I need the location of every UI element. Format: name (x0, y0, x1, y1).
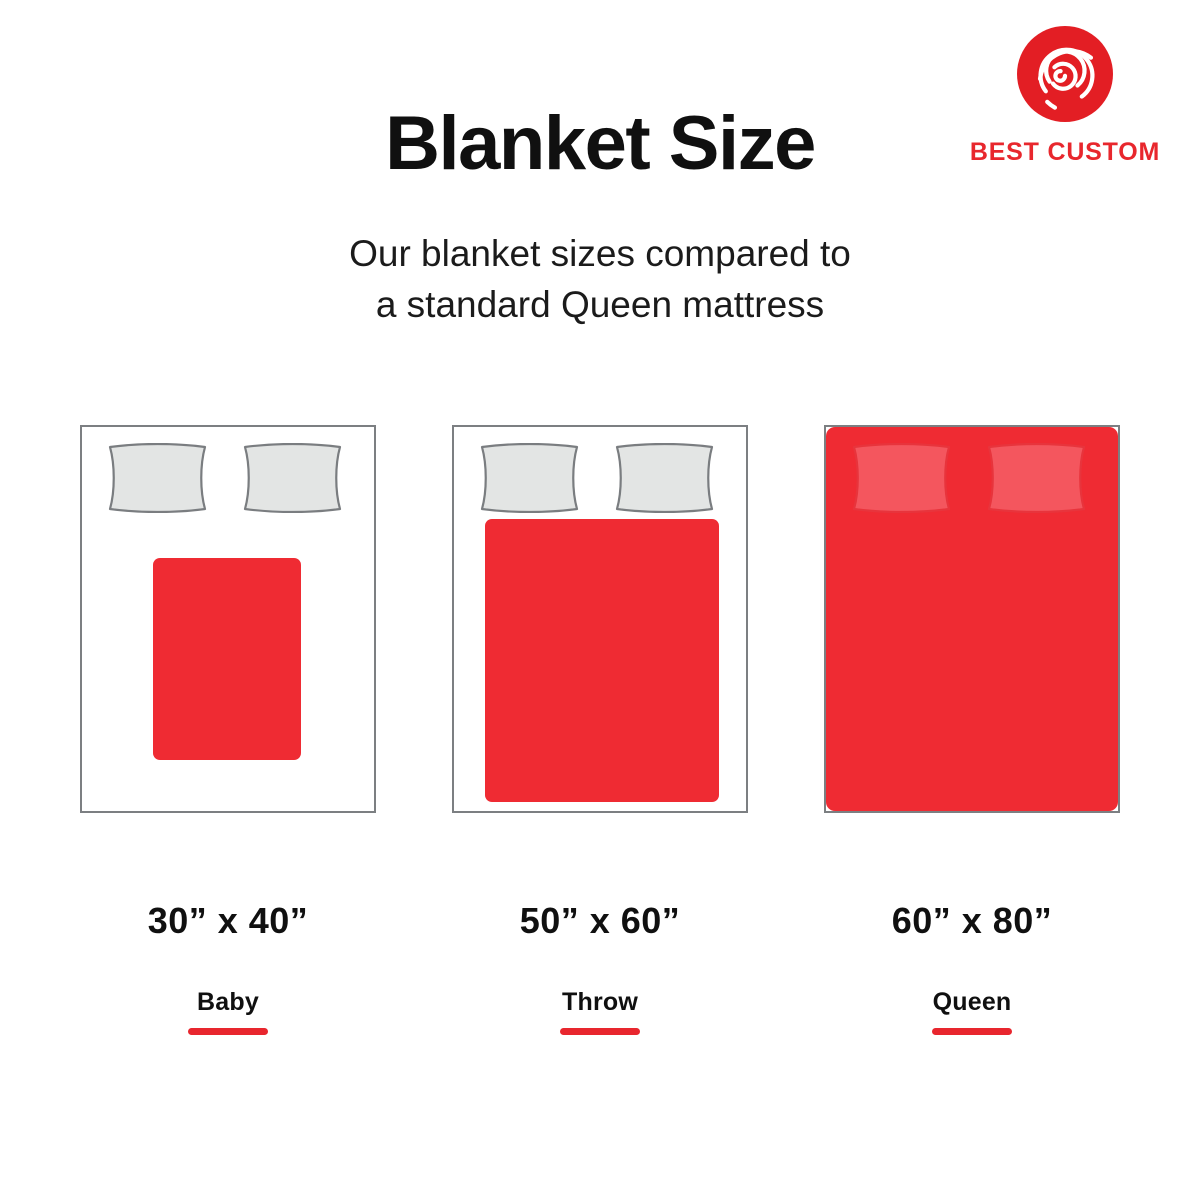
bed-diagram-queen (824, 425, 1120, 813)
pillow-left-icon (849, 443, 954, 513)
underline-rule (560, 1028, 640, 1035)
pillow-right-icon (984, 443, 1089, 513)
dimensions-label: 50” x 60” (452, 900, 748, 942)
dimensions-label: 60” x 80” (824, 900, 1120, 942)
bed-comparison-row (0, 425, 1200, 815)
label-group-queen: 60” x 80” Queen (824, 900, 1120, 1035)
bed-label-row: 30” x 40” Baby 50” x 60” Throw 60” x 80”… (0, 900, 1200, 1040)
dimensions-label: 30” x 40” (80, 900, 376, 942)
blanket-shape-queen (826, 427, 1118, 811)
size-name-label: Queen (824, 988, 1120, 1017)
pillow-right-icon (612, 443, 717, 513)
label-group-baby: 30” x 40” Baby (80, 900, 376, 1035)
page-subtitle: Our blanket sizes compared to a standard… (0, 228, 1200, 330)
label-group-throw: 50” x 60” Throw (452, 900, 748, 1035)
size-name-label: Throw (452, 988, 748, 1017)
page-title: Blanket Size (0, 104, 1200, 184)
size-name-label: Baby (80, 988, 376, 1017)
pillow-right-icon (240, 443, 345, 513)
blanket-shape-baby (153, 558, 301, 760)
bed-diagram-throw (452, 425, 748, 813)
underline-rule (188, 1028, 268, 1035)
pillow-left-icon (105, 443, 210, 513)
underline-rule (932, 1028, 1012, 1035)
pillow-left-icon (477, 443, 582, 513)
blanket-shape-throw (485, 519, 719, 802)
bed-diagram-baby (80, 425, 376, 813)
